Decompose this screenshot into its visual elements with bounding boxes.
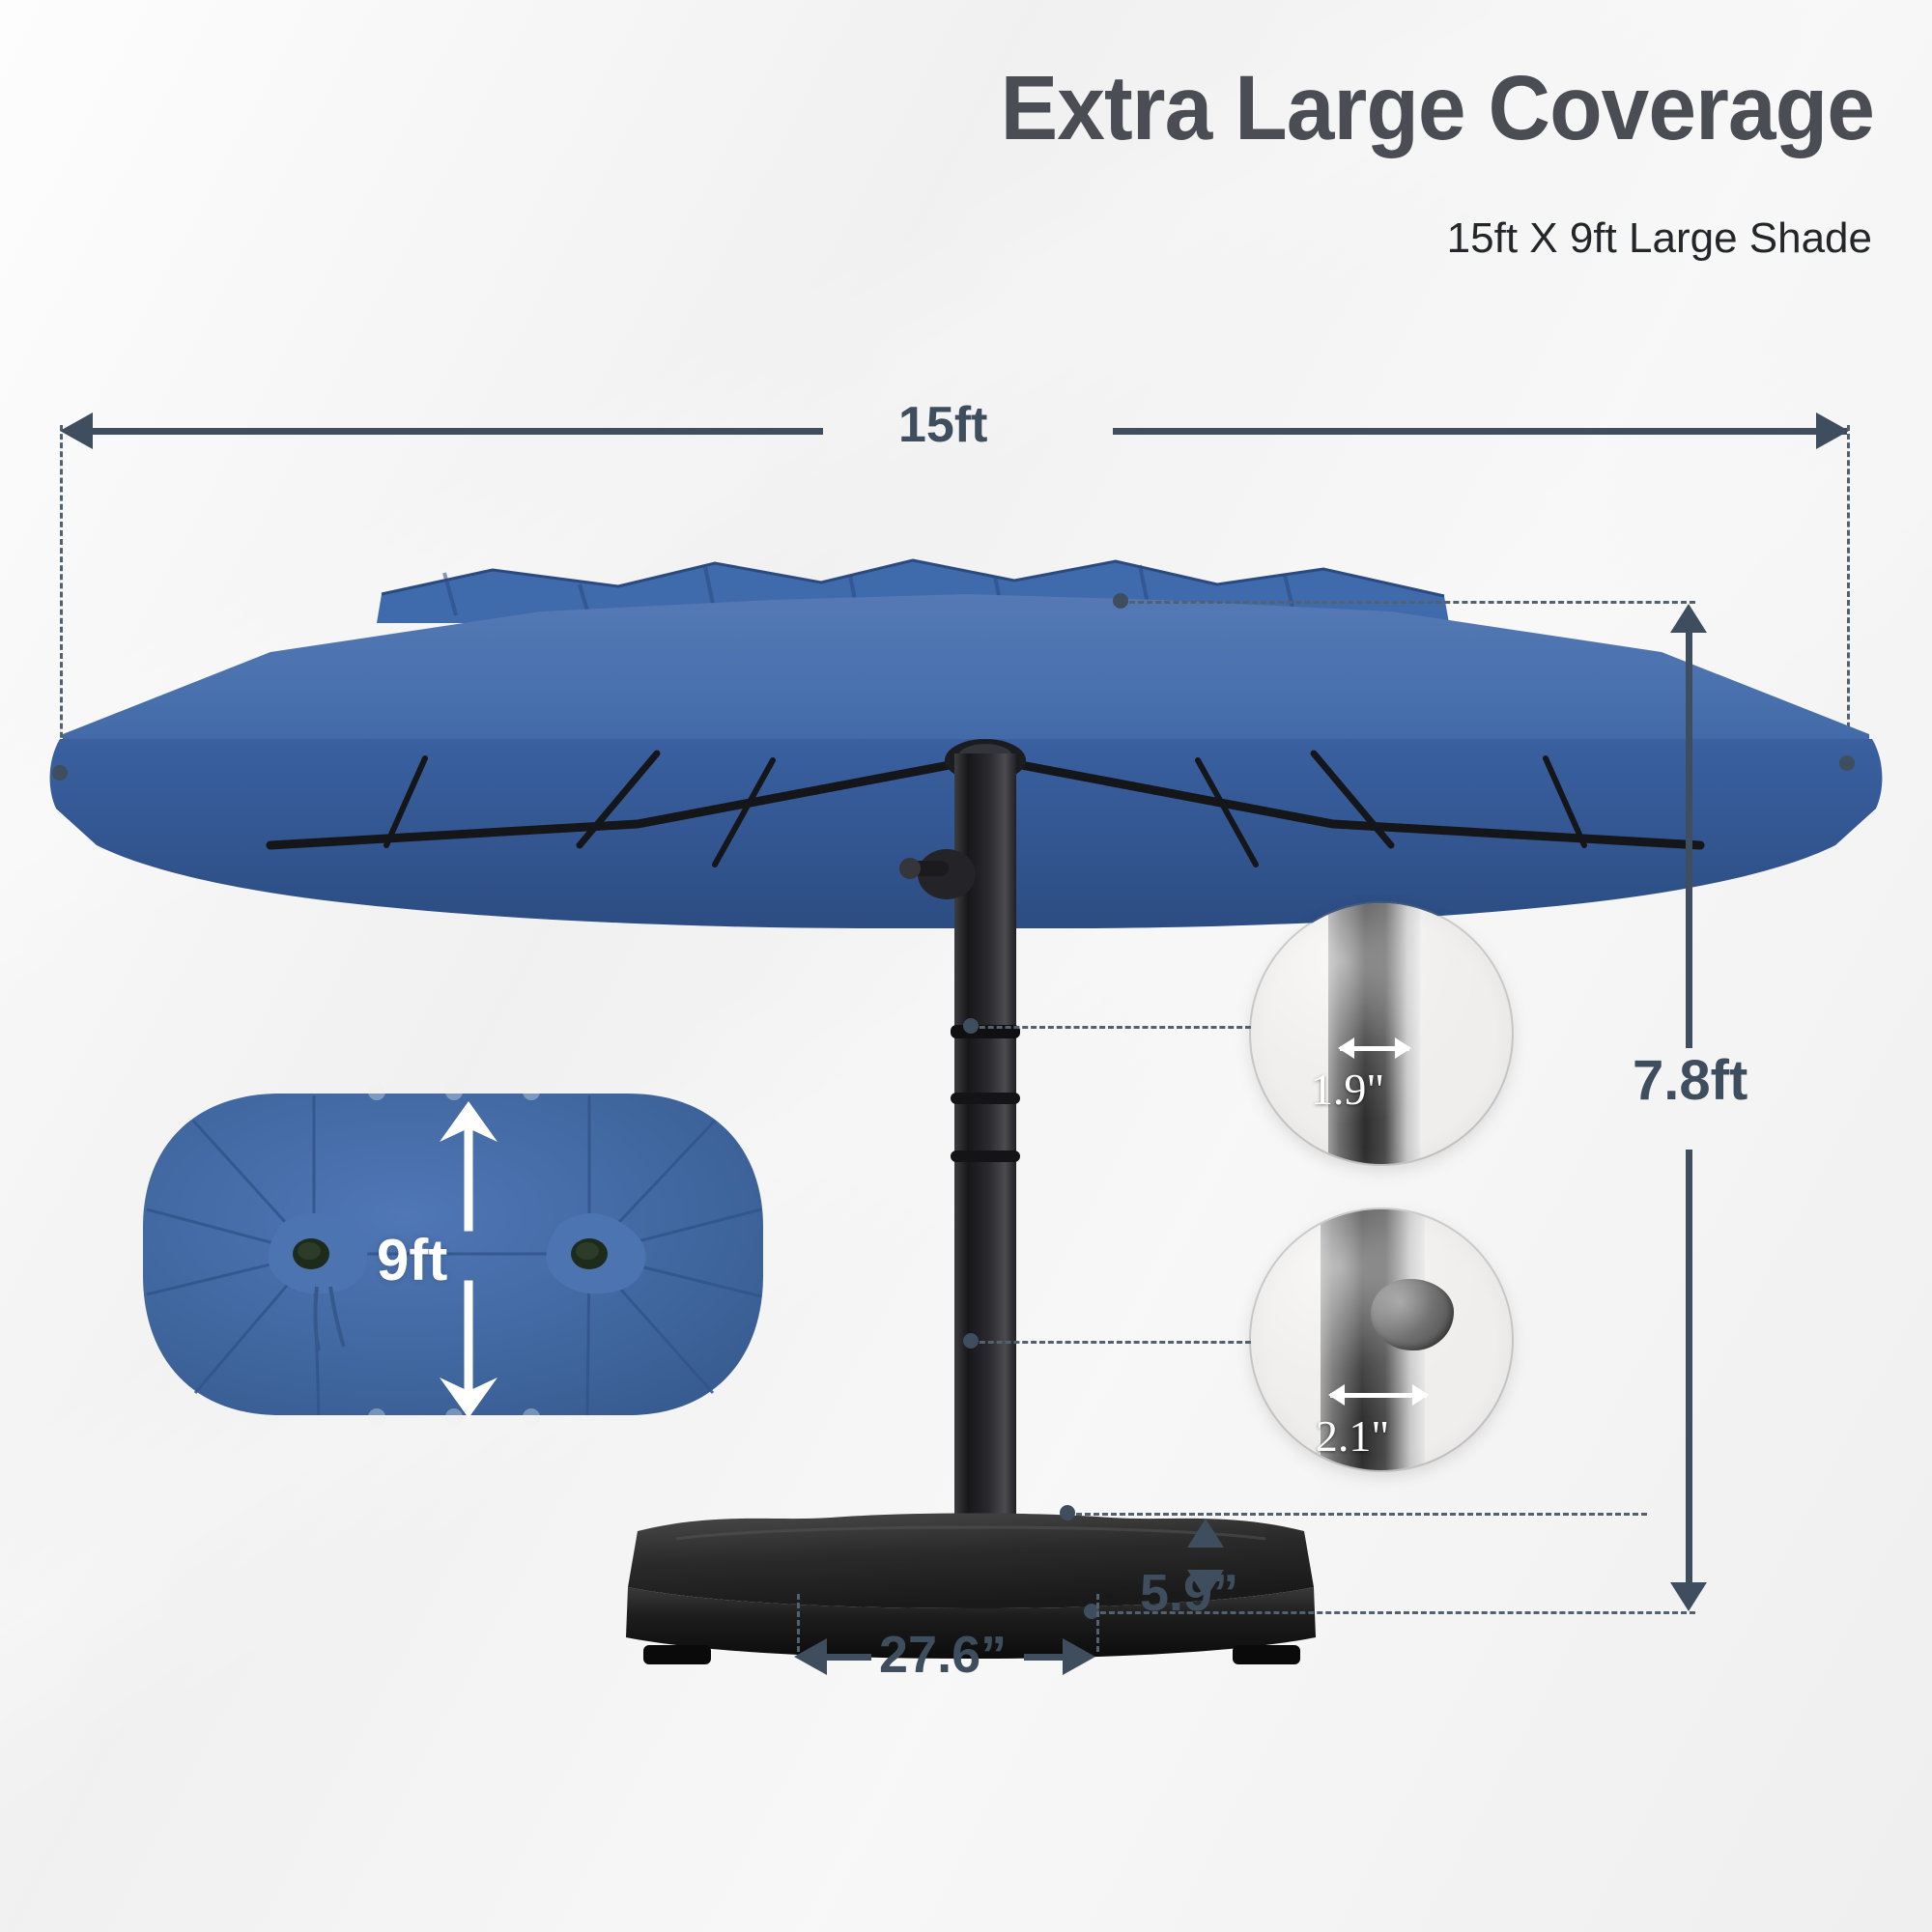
lower-pole-anchor-dot bbox=[963, 1333, 979, 1349]
height-top-anchor-dot bbox=[1113, 593, 1128, 609]
width-dimension-label: 15ft bbox=[898, 396, 987, 454]
upper-pole-diameter-label: 1.9" bbox=[1268, 1067, 1427, 1112]
width-arrow-left bbox=[60, 412, 93, 449]
height-arrow-down bbox=[1670, 1582, 1707, 1611]
canopy-left-anchor-dot bbox=[52, 765, 68, 781]
depth-dimension-label: 9ft bbox=[377, 1227, 447, 1293]
lower-pole-leader-line bbox=[971, 1341, 1251, 1344]
page-subtitle: 15ft X 9ft Large Shade bbox=[1447, 214, 1872, 263]
height-arrow-up bbox=[1670, 604, 1707, 633]
upper-pole-width-arrow bbox=[1340, 1046, 1409, 1051]
canopy-top-slab bbox=[63, 594, 1869, 753]
pole-joint-mid bbox=[951, 1093, 1020, 1104]
base-height-label: 5.9” bbox=[1140, 1563, 1238, 1623]
base-width-arrow-left bbox=[794, 1638, 827, 1675]
width-arrow-right bbox=[1816, 412, 1849, 449]
magnifier-glare bbox=[1251, 903, 1512, 1164]
infographic-canvas: Extra Large Coverage 15ft X 9ft Large Sh… bbox=[0, 0, 1932, 1932]
upper-pole-leader-line bbox=[971, 1026, 1251, 1029]
lower-pole-diameter-label: 2.1" bbox=[1261, 1414, 1444, 1459]
base-height-arrow-up bbox=[1187, 1519, 1224, 1548]
width-line-right bbox=[1113, 428, 1847, 435]
lower-pole-width-arrow bbox=[1330, 1393, 1427, 1398]
base-height-top-guide bbox=[1067, 1513, 1647, 1516]
pole-joint-lower bbox=[951, 1151, 1020, 1162]
upper-pole-anchor-dot bbox=[963, 1018, 979, 1034]
canopy-right-anchor-dot bbox=[1839, 755, 1855, 771]
height-line-lower bbox=[1686, 1150, 1692, 1582]
page-title: Extra Large Coverage bbox=[112, 56, 1874, 161]
base-width-line-left bbox=[823, 1654, 871, 1661]
base-height-top-dot bbox=[1060, 1505, 1075, 1520]
height-line-upper bbox=[1686, 633, 1692, 1048]
base-width-ext-right bbox=[1096, 1594, 1099, 1652]
base-width-arrow-right bbox=[1063, 1638, 1095, 1675]
width-line-left bbox=[89, 428, 823, 435]
umbrella-top-svg bbox=[135, 1082, 773, 1546]
umbrella-top-view: 9ft bbox=[135, 1082, 773, 1546]
height-top-guide bbox=[1121, 601, 1695, 604]
base-width-label: 27.6” bbox=[879, 1625, 1007, 1685]
upper-pole-magnifier: 1.9" bbox=[1251, 903, 1512, 1164]
lower-pole-magnifier: 2.1" bbox=[1251, 1209, 1512, 1470]
height-dimension-label: 7.8ft bbox=[1633, 1048, 1747, 1113]
